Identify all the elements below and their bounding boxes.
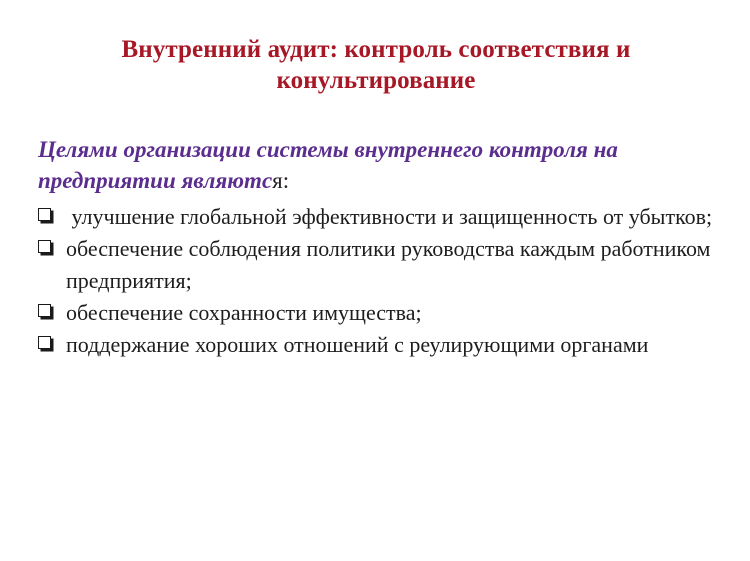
slide-title-line-2: конультирование [96,65,656,96]
list-item-label: поддержание хороших отношений с реулирую… [66,329,718,361]
lead-in-paragraph: Целями организации системы внутреннего к… [38,134,710,196]
hollow-square-shadow-bullet-icon [38,329,66,349]
list-item: обеспечение соблюдения политики руководс… [38,233,718,297]
list-item: обеспечение сохранности имущества; [38,297,718,329]
hollow-square-shadow-bullet-icon [38,233,66,253]
lead-in-tail: я: [272,168,289,193]
list-item-label: обеспечение сохранности имущества; [66,297,718,329]
goals-bullet-list: улучшение глобальной эффективности и защ… [38,201,718,361]
slide-canvas: Внутренний аудит: контроль соответствия … [0,0,750,561]
list-item: поддержание хороших отношений с реулирую… [38,329,718,361]
slide-title-line-1: Внутренний аудит: контроль соответствия … [96,34,656,65]
slide-title: Внутренний аудит: контроль соответствия … [96,34,656,96]
list-item-label: обеспечение соблюдения политики руководс… [66,233,718,297]
list-item-label: улучшение глобальной эффективности и защ… [66,201,718,233]
hollow-square-shadow-bullet-icon [38,201,66,221]
list-item: улучшение глобальной эффективности и защ… [38,201,718,233]
hollow-square-shadow-bullet-icon [38,297,66,317]
lead-in-emphasis: Целями организации системы внутреннего к… [38,137,618,193]
